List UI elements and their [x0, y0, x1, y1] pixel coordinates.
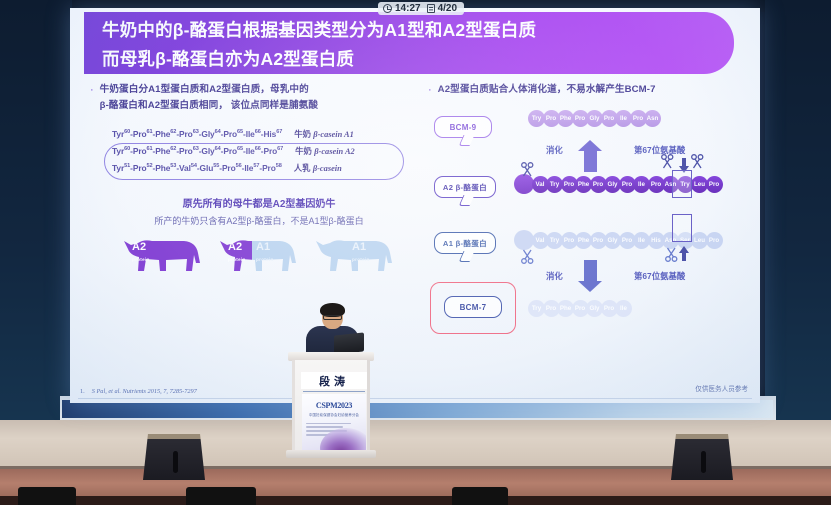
- wall-left: [0, 0, 72, 420]
- cow-split-badge-right: A1 protein: [256, 242, 274, 265]
- citation-text: S Pal, et al. Nutrients 2015, 7, 7285-72…: [92, 388, 197, 395]
- right-bullet-text: A2型蛋白质贴合人体消化道，不易水解产生BCM-7: [438, 82, 656, 98]
- cow-a2: A2 protein: [122, 233, 204, 279]
- bullet-marker-icon: ·: [428, 82, 432, 98]
- peptide-sequence-list: Tyr60-Pro61-Phe62-Pro63-Gly64-Pro65-Ile6…: [104, 128, 428, 179]
- a1-casein-label: A1 β-酪蛋白: [443, 238, 487, 249]
- left-bullet: · 牛奶蛋白分A1型蛋白质和A2型蛋白质，母乳中的 β-酪蛋白和A2型蛋白质相同…: [90, 82, 428, 114]
- page-counter: 4/20: [438, 3, 457, 14]
- cow-a1-badge: A1 protein: [352, 242, 370, 265]
- aa-residue: Ile: [615, 300, 632, 317]
- podium: 段涛 CSPM2023 中国妇幼保健协会妇幼营养分会: [292, 352, 370, 458]
- left-bullet-line-1: 牛奶蛋白分A1型蛋白质和A2型蛋白质，母乳中的: [100, 84, 309, 95]
- cow-subheading: 所产的牛奶只含有A2型β-酪蛋白，不是A1型β-酪蛋白: [90, 214, 428, 227]
- arrow-down-small-icon: [682, 158, 686, 167]
- scissors-icon: [520, 162, 536, 178]
- a2-casein-label: A2 β-酪蛋白: [443, 182, 487, 193]
- aa-residue: Pro: [706, 176, 723, 193]
- monitor-handle-icon: [173, 451, 178, 473]
- bcm7-label-bubble: BCM-7: [444, 296, 502, 318]
- wall-right: [765, 0, 831, 420]
- conference-logo: CSPM2023: [302, 401, 366, 410]
- podium-base: [286, 450, 376, 458]
- clock-icon: [383, 4, 392, 13]
- digest-label-bottom: 消化: [546, 270, 563, 282]
- cut-site-box-a1: [672, 214, 692, 242]
- bubble-tail-icon: [459, 251, 475, 262]
- cow-a2-label: A2: [132, 241, 146, 253]
- arrow-up-icon: [584, 150, 597, 172]
- citation-number: 1.: [80, 388, 85, 395]
- cow-row: A2 protein: [90, 233, 428, 279]
- cow-a1-sublabel: protein: [352, 254, 370, 265]
- cow-a2-sublabel: protein: [132, 254, 150, 265]
- sequence-chain-a1: Tyr60-Pro61-Phe62-Pro63-Gly64-Pro65-Ile6…: [112, 129, 282, 139]
- footer-divider: [78, 398, 752, 399]
- monitor-handle-icon: [701, 451, 706, 473]
- slide-title-banner: 牛奶中的β-酪蛋白根据基因类型分为A1型和A2型蛋白质 而母乳β-酪蛋白亦为A2…: [84, 12, 734, 74]
- status-overlay: 14:27 4/20: [378, 2, 464, 15]
- scissors-icon: [520, 248, 536, 264]
- scissors-icon: [664, 246, 680, 262]
- page-icon: [427, 4, 435, 13]
- cow-heading: 原先所有的母牛都是A2型基因奶牛: [90, 195, 428, 210]
- bcm9-label: BCM-9: [450, 123, 477, 132]
- cow-split-label-right: A1: [256, 241, 270, 253]
- cow-a2-badge: A2 protein: [132, 242, 150, 265]
- disclaimer-text: 仅供医务人员参考: [695, 383, 748, 393]
- left-bullet-line-2: β-酪蛋白和A2型蛋白质相同， 该位点同样是脯氨酸: [100, 98, 318, 114]
- stage-monitor-right: [671, 434, 733, 480]
- podium-body: 段涛 CSPM2023 中国妇幼保健协会妇幼营养分会: [292, 360, 370, 452]
- cow-split-sublabel-right: protein: [256, 254, 274, 265]
- conference-subtitle: 中国妇幼保健协会妇幼营养分会: [302, 412, 366, 417]
- cow-split-label-left: A2: [228, 241, 242, 253]
- foreground-floor: [0, 496, 831, 505]
- citation: 1. S Pal, et al. Nutrients 2015, 7, 7285…: [80, 388, 197, 395]
- sequence-chain-a2: Tyr60-Pro61-Phe62-Pro63-Gly64-Pro65-Ile6…: [112, 146, 283, 156]
- scissors-icon: [690, 154, 706, 170]
- sequence-row-a1: Tyr60-Pro61-Phe62-Pro63-Gly64-Pro65-Ile6…: [104, 128, 428, 145]
- arrow-up-small-icon: [682, 252, 686, 261]
- chain-bcm9: TryProPheProGlyProIleProAsn: [528, 110, 661, 127]
- aa-residue: Asn: [644, 110, 661, 127]
- arrow-down-icon: [584, 260, 597, 282]
- sequence-row-human: Tyr51-Pro52-Phe53-Val54-Glu55-Pro56-Ile5…: [104, 162, 428, 179]
- clock-group: 14:27: [383, 3, 421, 14]
- cow-a1-label: A1: [352, 241, 366, 253]
- right-bullet: · A2型蛋白质贴合人体消化道，不易水解产生BCM-7: [428, 82, 748, 98]
- scissors-icon: [660, 154, 676, 170]
- left-bullet-text: 牛奶蛋白分A1型蛋白质和A2型蛋白质，母乳中的 β-酪蛋白和A2型蛋白质相同， …: [100, 82, 318, 114]
- digestion-diagram: BCM-9 A2 β-酪蛋白 A1 β-酪蛋白 BCM-7 TryProPheP…: [428, 104, 748, 354]
- podium-poster: CSPM2023 中国妇幼保健协会妇幼营养分会: [302, 394, 366, 456]
- position-label-bottom: 第67位氨基酸: [634, 270, 685, 282]
- bullet-marker-icon: ·: [90, 82, 94, 114]
- sequence-row-a2: Tyr60-Pro61-Phe62-Pro63-Gly64-Pro65-Ile6…: [104, 145, 428, 162]
- right-column: · A2型蛋白质贴合人体消化道，不易水解产生BCM-7 BCM-9 A2 β-酪…: [428, 82, 748, 354]
- cow-split: A2 protein A1 protein: [218, 233, 300, 279]
- aa-residue: Pro: [706, 232, 723, 249]
- chain-bcm7: TryProPheProGlyProIle: [528, 300, 632, 317]
- cow-illustration-block: 原先所有的母牛都是A2型基因奶牛 所产的牛奶只含有A2型β-酪蛋白，不是A1型β…: [90, 195, 428, 279]
- slide-title-line-2: 而母乳β-酪蛋白亦为A2型蛋白质: [102, 45, 704, 74]
- glasses-icon: [323, 315, 342, 320]
- bubble-tail-icon: [459, 195, 475, 206]
- digest-label-top: 消化: [546, 144, 563, 156]
- clock-time: 14:27: [395, 3, 421, 14]
- sequence-label-human: 人乳 β-casein: [294, 162, 342, 174]
- slide-title-line-1: 牛奶中的β-酪蛋白根据基因类型分为A1型和A2型蛋白质: [102, 16, 704, 45]
- speaker-nameplate: 段涛: [301, 372, 367, 389]
- projection-screen: 牛奶中的β-酪蛋白根据基因类型分为A1型和A2型蛋白质 而母乳β-酪蛋白亦为A2…: [70, 8, 760, 403]
- left-column: · 牛奶蛋白分A1型蛋白质和A2型蛋白质，母乳中的 β-酪蛋白和A2型蛋白质相同…: [90, 82, 428, 279]
- audience-seat: [452, 487, 508, 505]
- bcm9-label-bubble: BCM-9: [434, 116, 492, 138]
- bubble-tail-icon: [459, 135, 475, 146]
- sequence-label-a1: 牛奶 β-casein A1: [294, 128, 354, 140]
- cow-a1: A1 protein: [314, 233, 396, 279]
- audience-seat: [18, 487, 76, 505]
- audience-seat: [186, 487, 256, 505]
- page-group: 4/20: [427, 3, 457, 14]
- cow-split-badge-left: A2 protein: [228, 242, 246, 265]
- a1-casein-label-bubble: A1 β-酪蛋白: [434, 232, 496, 254]
- sequence-chain-human: Tyr51-Pro52-Phe53-Val54-Glu55-Pro56-Ile5…: [112, 163, 282, 173]
- podium-divider: [303, 391, 365, 392]
- sequence-label-a2: 牛奶 β-casein A2: [295, 145, 355, 157]
- cow-split-sublabel-left: protein: [228, 254, 246, 265]
- a2-casein-label-bubble: A2 β-酪蛋白: [434, 176, 496, 198]
- bcm7-label: BCM-7: [460, 303, 487, 312]
- cut-site-box-a2: [672, 170, 692, 198]
- stage-monitor-left: [143, 434, 205, 480]
